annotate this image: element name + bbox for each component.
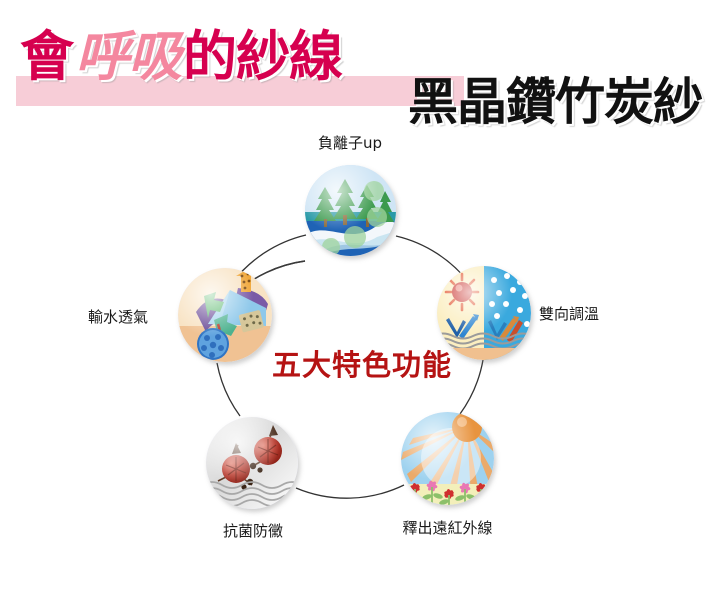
diagram-center-label: 五大特色功能 xyxy=(272,342,452,384)
page-title: 會呼吸的紗線 xyxy=(20,26,342,88)
page-title-part-1: 會 xyxy=(20,25,73,88)
germs-icon xyxy=(206,417,298,509)
five-features-diagram: 負離子up xyxy=(0,120,708,590)
sunrays-flowers-icon xyxy=(401,412,494,505)
page-title-part-2: 呼吸 xyxy=(73,25,183,88)
forest-river-icon xyxy=(305,165,396,256)
feature-label-negative-ion: 負離子up xyxy=(305,132,395,153)
poster-canvas: 會呼吸的紗線 黑晶鑽竹炭紗 xyxy=(0,0,708,600)
feature-label-far-infrared: 釋出遠紅外線 xyxy=(385,517,510,538)
fabric-moisture-icon xyxy=(178,268,272,362)
feature-label-antibacterial: 抗菌防黴 xyxy=(207,520,299,541)
feature-label-dual-temperature: 雙向調溫 xyxy=(539,303,599,324)
feature-label-moisture-wicking: 輸水透氣 xyxy=(88,306,148,327)
page-title-part-3: 的紗線 xyxy=(183,25,342,88)
